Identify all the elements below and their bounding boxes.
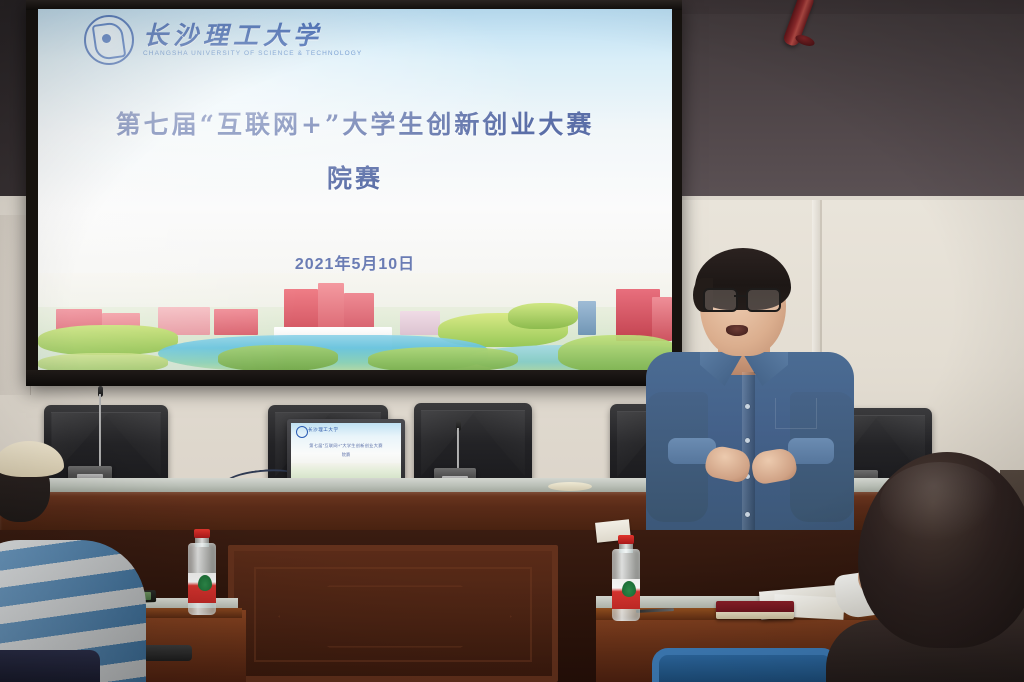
laptop-screen: 长沙理工大学 第七届“互联网+”大学生创新创业大赛 院赛 [291, 423, 401, 482]
water-bottle-right[interactable] [612, 535, 640, 625]
glasses-icon [703, 288, 779, 308]
campus-greenery [368, 347, 518, 372]
bottle-leaf-icon [198, 575, 212, 591]
campus-building [400, 311, 440, 335]
audience-right-hair-highlight [880, 462, 1000, 542]
desk-object [548, 482, 592, 491]
campus-greenery [508, 303, 578, 329]
foreground-chair[interactable] [652, 648, 838, 682]
shirt-pocket [775, 398, 817, 429]
glasses-bridge [734, 295, 746, 297]
slide-title-line2: 院赛 [38, 159, 672, 195]
audience-left-chair[interactable] [0, 650, 100, 682]
glasses-lens-left [703, 288, 738, 312]
projection-screen: 长沙理工大学 CHANGSHA UNIVERSITY OF SCIENCE & … [38, 9, 672, 372]
bottle-cap [618, 535, 635, 544]
laptop-logo-icon [296, 426, 308, 438]
water-bottle-left[interactable] [188, 529, 216, 619]
campus-greenery [38, 325, 178, 355]
slide-logo-en: CHANGSHA UNIVERSITY OF SCIENCE & TECHNOL… [143, 51, 362, 58]
laptop-title-line2: 院赛 [291, 452, 401, 458]
notebook[interactable] [716, 601, 794, 619]
bottle-cap [194, 529, 211, 538]
campus-photo [38, 273, 672, 372]
microphone-stem [457, 428, 459, 470]
shirt-button [745, 438, 750, 443]
slide-logo-cn: 长沙理工大学 [143, 23, 362, 48]
photo-scene: 长沙理工大学 CHANGSHA UNIVERSITY OF SCIENCE & … [0, 0, 1024, 682]
laptop-title-line1: 第七届“互联网+”大学生创新创业大赛 [291, 443, 401, 449]
wood-panel [228, 545, 558, 682]
bottle-leaf-icon [622, 581, 636, 597]
campus-greenery [218, 345, 338, 371]
glasses-lens-right [746, 288, 781, 312]
shirt-button [745, 512, 750, 517]
screen-bottom-bar [26, 370, 682, 386]
shirt-button [745, 404, 750, 409]
campus-building [578, 301, 596, 335]
university-emblem-icon [84, 15, 134, 65]
campus-building [214, 309, 258, 335]
slide-date: 2021年5月10日 [38, 250, 672, 274]
laptop-logo-text: 长沙理工大学 [308, 427, 339, 433]
speaker-mouth [726, 325, 748, 336]
slide-logo-text: 长沙理工大学 CHANGSHA UNIVERSITY OF SCIENCE & … [143, 23, 362, 58]
microphone-stem [99, 394, 101, 468]
slide-title-line1: 第七届“互联网+”大学生创新创业大赛 [38, 105, 672, 141]
wood-panel-inlay [254, 567, 532, 662]
slide-logo: 长沙理工大学 CHANGSHA UNIVERSITY OF SCIENCE & … [84, 15, 362, 65]
blackboard-right [666, 14, 1024, 203]
campus-building [652, 297, 672, 341]
